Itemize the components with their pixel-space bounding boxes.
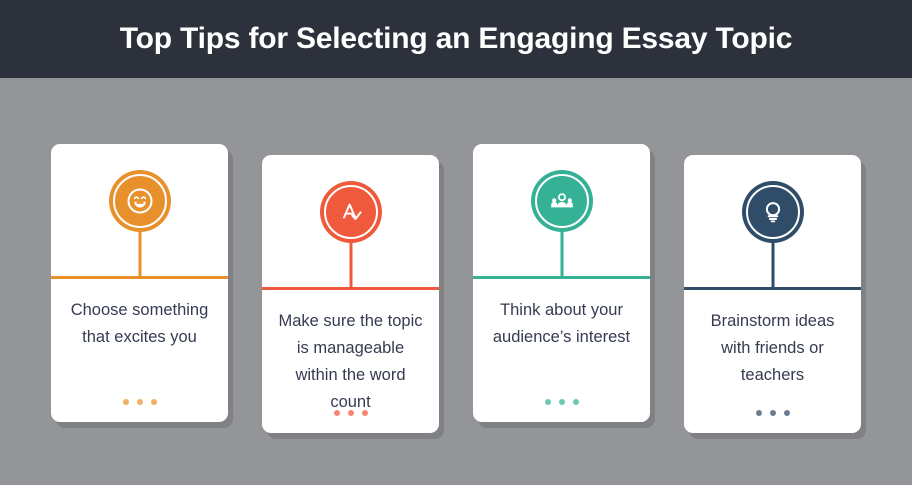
tip-card-4[interactable]: Brainstorm ideas with friends or teacher…: [684, 155, 861, 433]
dot: [362, 410, 368, 416]
dot: [151, 399, 157, 405]
tip-card-4-icon-area: [684, 155, 861, 287]
dot: [137, 399, 143, 405]
dot: [123, 399, 129, 405]
tip-card-2-icon-area: [262, 155, 439, 287]
tip-card-1-text: Choose something that excites you: [64, 297, 215, 351]
dot: [334, 410, 340, 416]
tip-card-1-stem: [138, 230, 141, 276]
tip-card-1[interactable]: Choose something that excites you: [51, 144, 228, 422]
tip-card-1-dots: [51, 399, 228, 405]
dot: [348, 410, 354, 416]
smiley-face-icon: [109, 170, 171, 232]
tip-card-3-icon-area: [473, 144, 650, 276]
page-header: Top Tips for Selecting an Engaging Essay…: [0, 0, 912, 78]
tips-card-list: Choose something that excites you Make s…: [0, 78, 912, 485]
tip-card-2-dots: [262, 410, 439, 416]
tip-card-3-stem: [560, 230, 563, 276]
tip-card-3-dots: [473, 399, 650, 405]
dot: [545, 399, 551, 405]
tip-card-3[interactable]: Think about your audience’s interest: [473, 144, 650, 422]
dot: [573, 399, 579, 405]
letter-a-checkmark-icon: [320, 181, 382, 243]
tip-card-4-dots: [684, 410, 861, 416]
dot: [559, 399, 565, 405]
page-title: Top Tips for Selecting an Engaging Essay…: [120, 24, 793, 54]
dot: [756, 410, 762, 416]
tip-card-2[interactable]: Make sure the topic is manageable within…: [262, 155, 439, 433]
tip-card-1-icon-area: [51, 144, 228, 276]
tip-card-2-stem: [349, 241, 352, 287]
audience-group-icon: [531, 170, 593, 232]
tip-card-2-text: Make sure the topic is manageable within…: [275, 308, 426, 416]
dot: [770, 410, 776, 416]
dot: [784, 410, 790, 416]
tip-card-4-stem: [771, 241, 774, 287]
tip-card-3-text: Think about your audience’s interest: [486, 297, 637, 351]
tip-card-4-text: Brainstorm ideas with friends or teacher…: [697, 308, 848, 389]
lightbulb-icon: [742, 181, 804, 243]
